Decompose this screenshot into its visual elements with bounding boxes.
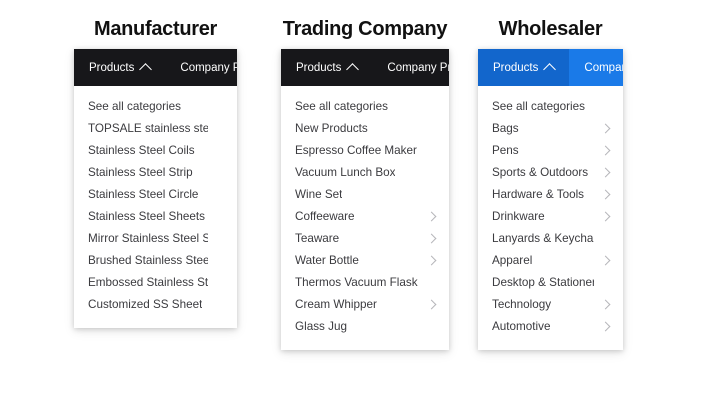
list-item[interactable]: Espresso Coffee Maker	[281, 139, 449, 161]
list-item-label: See all categories	[492, 100, 585, 113]
chevron-right-icon	[427, 233, 437, 243]
list-item[interactable]: Technology	[478, 293, 623, 315]
list-item[interactable]: New Products	[281, 117, 449, 139]
tab-company-profile-label: Company Profile	[180, 62, 237, 74]
list-item-label: TOPSALE stainless steel	[88, 122, 208, 135]
dropdown-panel: Products Company Profile See all categor…	[74, 49, 237, 328]
list-item-label: Automotive	[492, 320, 550, 333]
list-item[interactable]: Automotive	[478, 315, 623, 337]
list-item[interactable]: Coffeeware	[281, 205, 449, 227]
tab-products[interactable]: Products	[74, 49, 165, 86]
list-item[interactable]: Desktop & Stationery	[478, 271, 623, 293]
chevron-right-icon	[601, 189, 611, 199]
list-item[interactable]: Bags	[478, 117, 623, 139]
list-item-label: New Products	[295, 122, 368, 135]
list-item[interactable]: Drinkware	[478, 205, 623, 227]
list-item-label: Thermos Vacuum Flask	[295, 276, 418, 289]
list-item[interactable]: See all categories	[74, 95, 237, 117]
list-item[interactable]: Vacuum Lunch Box	[281, 161, 449, 183]
panel-tab-bar: Products Company Profile	[281, 49, 449, 86]
list-item-label: Teaware	[295, 232, 339, 245]
list-item-label: Mirror Stainless Steel Sheet	[88, 232, 208, 245]
list-item[interactable]: Stainless Steel Sheets	[74, 205, 237, 227]
chevron-right-icon	[427, 299, 437, 309]
chevron-right-icon	[601, 211, 611, 221]
list-item[interactable]: Water Bottle	[281, 249, 449, 271]
list-item[interactable]: Lanyards & Keychains	[478, 227, 623, 249]
list-item-label: Embossed Stainless Steel ...	[88, 276, 208, 289]
tab-company-profile[interactable]: Company Profile	[569, 49, 623, 86]
list-item-label: Vacuum Lunch Box	[295, 166, 395, 179]
list-item-label: See all categories	[88, 100, 181, 113]
chevron-right-icon	[601, 167, 611, 177]
page-title: Manufacturer	[94, 18, 217, 41]
list-item-label: Pens	[492, 144, 519, 157]
panel-tab-bar: Products Company Profile	[74, 49, 237, 86]
list-item[interactable]: Customized SS Sheet	[74, 293, 237, 315]
list-item[interactable]: Mirror Stainless Steel Sheet	[74, 227, 237, 249]
list-item[interactable]: Hardware & Tools	[478, 183, 623, 205]
chevron-up-icon	[347, 63, 360, 76]
list-item[interactable]: Embossed Stainless Steel ...	[74, 271, 237, 293]
tab-products-label: Products	[493, 62, 538, 74]
list-item-label: Stainless Steel Coils	[88, 144, 195, 157]
list-item[interactable]: Glass Jug	[281, 315, 449, 337]
category-list: See all categories New Products Espresso…	[281, 86, 449, 350]
list-item-label: Desktop & Stationery	[492, 276, 594, 289]
list-item[interactable]: Stainless Steel Coils	[74, 139, 237, 161]
list-item-label: Espresso Coffee Maker	[295, 144, 417, 157]
list-item[interactable]: Sports & Outdoors	[478, 161, 623, 183]
list-item-label: Water Bottle	[295, 254, 359, 267]
tab-products-label: Products	[296, 62, 341, 74]
list-item[interactable]: Stainless Steel Circle	[74, 183, 237, 205]
list-item[interactable]: Apparel	[478, 249, 623, 271]
panel-tab-bar: Products Company Profile	[478, 49, 623, 86]
list-item-label: Technology	[492, 298, 551, 311]
list-item-label: Hardware & Tools	[492, 188, 584, 201]
tab-company-profile[interactable]: Company Profile	[165, 49, 237, 86]
list-item[interactable]: Thermos Vacuum Flask	[281, 271, 449, 293]
list-item-label: Drinkware	[492, 210, 545, 223]
chevron-right-icon	[601, 299, 611, 309]
tab-products[interactable]: Products	[281, 49, 372, 86]
list-item-label: Stainless Steel Strip	[88, 166, 193, 179]
list-item[interactable]: See all categories	[281, 95, 449, 117]
list-item-label: Wine Set	[295, 188, 342, 201]
list-item-label: Cream Whipper	[295, 298, 377, 311]
chevron-right-icon	[601, 321, 611, 331]
list-item[interactable]: Cream Whipper	[281, 293, 449, 315]
chevron-right-icon	[601, 255, 611, 265]
tab-company-profile[interactable]: Company Profile	[372, 49, 449, 86]
list-item-label: Bags	[492, 122, 519, 135]
list-item-label: Apparel	[492, 254, 532, 267]
list-item-label: Customized SS Sheet	[88, 298, 202, 311]
list-item[interactable]: TOPSALE stainless steel	[74, 117, 237, 139]
chevron-up-icon	[140, 63, 153, 76]
list-item-label: Glass Jug	[295, 320, 347, 333]
tab-company-profile-label: Company Profile	[387, 62, 449, 74]
chevron-up-icon	[544, 63, 557, 76]
list-item[interactable]: Pens	[478, 139, 623, 161]
chevron-right-icon	[601, 145, 611, 155]
list-item-label: Stainless Steel Circle	[88, 188, 198, 201]
page-title: Wholesaler	[499, 18, 603, 41]
category-list: See all categories Bags Pens Sports & Ou…	[478, 86, 623, 350]
list-item-label: Sports & Outdoors	[492, 166, 588, 179]
list-item-label: Lanyards & Keychains	[492, 232, 594, 245]
category-list: See all categories TOPSALE stainless ste…	[74, 86, 237, 328]
list-item-label: Coffeeware	[295, 210, 355, 223]
chevron-right-icon	[427, 211, 437, 221]
list-item[interactable]: Stainless Steel Strip	[74, 161, 237, 183]
list-item-label: Brushed Stainless Steel Sh...	[88, 254, 208, 267]
tab-products-label: Products	[89, 62, 134, 74]
list-item[interactable]: Brushed Stainless Steel Sh...	[74, 249, 237, 271]
chevron-right-icon	[427, 255, 437, 265]
tab-company-profile-label: Company Profile	[584, 62, 623, 74]
list-item-label: Stainless Steel Sheets	[88, 210, 205, 223]
dropdown-panel: Products Company Profile See all categor…	[281, 49, 449, 350]
page-title: Trading Company	[283, 18, 447, 41]
list-item[interactable]: Wine Set	[281, 183, 449, 205]
dropdown-panel: Products Company Profile See all categor…	[478, 49, 623, 350]
tab-products[interactable]: Products	[478, 49, 569, 86]
list-item-label: See all categories	[295, 100, 388, 113]
list-item[interactable]: See all categories	[478, 95, 623, 117]
list-item[interactable]: Teaware	[281, 227, 449, 249]
chevron-right-icon	[601, 123, 611, 133]
